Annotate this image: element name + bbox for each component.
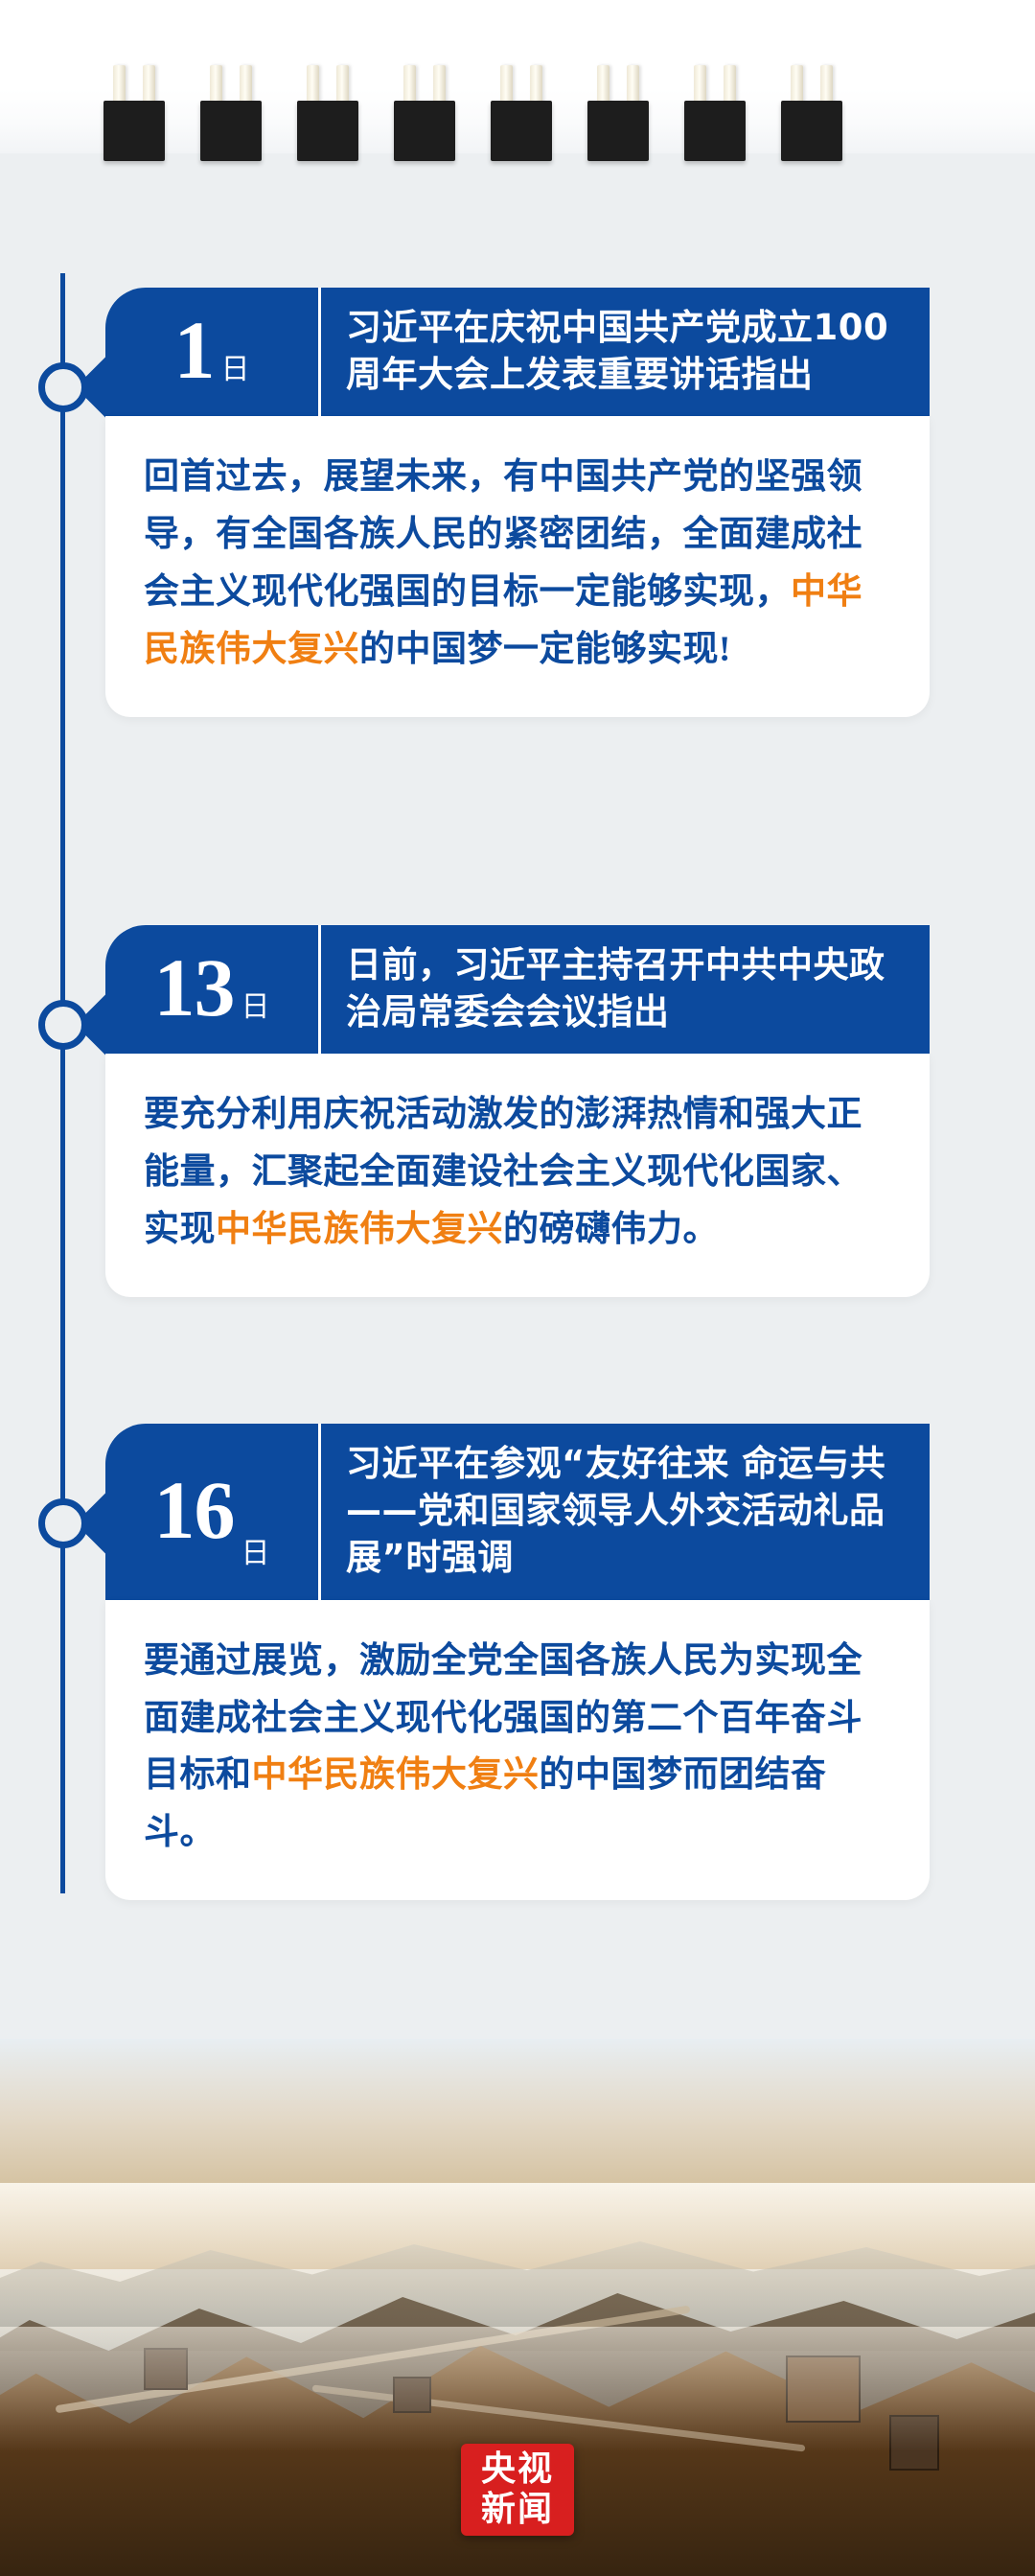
timeline-marker-dot xyxy=(38,1498,88,1548)
date-badge: 1日 xyxy=(105,288,321,416)
cctv-news-logo: 央视 新闻 xyxy=(461,2444,574,2536)
timeline-line xyxy=(60,273,65,1893)
card-title: 习近平在庆祝中国共产党成立100周年大会上发表重要讲话指出 xyxy=(321,288,930,416)
timeline-card[interactable]: 1日习近平在庆祝中国共产党成立100周年大会上发表重要讲话指出回首过去，展望未来… xyxy=(105,288,930,717)
binding-clip xyxy=(781,101,842,161)
date-badge: 16日 xyxy=(105,1424,321,1600)
card-header: 13日日前，习近平主持召开中共中央政治局常委会会议指出 xyxy=(105,925,930,1054)
body-text-segment: 的中国梦一定能够实现! xyxy=(359,630,731,669)
highlighted-phrase: 中华民族伟大复兴 xyxy=(216,1210,503,1249)
date-unit-label: 日 xyxy=(241,983,270,1036)
card-body-text: 回首过去，展望未来，有中国共产党的坚强领导，有全国各族人民的紧密团结，全面建成社… xyxy=(105,416,930,717)
card-title: 习近平在参观“友好往来 命运与共——党和国家领导人外交活动礼品展”时强调 xyxy=(321,1424,930,1600)
logo-line-2: 新闻 xyxy=(481,2490,554,2530)
binding-clip xyxy=(103,101,165,161)
card-header: 1日习近平在庆祝中国共产党成立100周年大会上发表重要讲话指出 xyxy=(105,288,930,416)
card-body-text: 要充分利用庆祝活动激发的澎湃热情和强大正能量，汇聚起全面建设社会主义现代化国家、… xyxy=(105,1054,930,1297)
date-unit-label: 日 xyxy=(241,1529,270,1583)
timeline-card[interactable]: 16日习近平在参观“友好往来 命运与共——党和国家领导人外交活动礼品展”时强调要… xyxy=(105,1424,930,1900)
notebook-binding xyxy=(0,0,1035,182)
card-body-text: 要通过展览，激励全党全国各族人民为实现全面建成社会主义现代化强国的第二个百年奋斗… xyxy=(105,1600,930,1901)
date-number: 16 xyxy=(154,1469,235,1551)
date-number: 1 xyxy=(174,309,215,391)
timeline-marker-dot xyxy=(38,362,88,412)
logo-line-1: 央视 xyxy=(481,2449,554,2490)
card-header: 16日习近平在参观“友好往来 命运与共——党和国家领导人外交活动礼品展”时强调 xyxy=(105,1424,930,1600)
binding-clip xyxy=(587,101,649,161)
date-number: 13 xyxy=(154,946,235,1029)
timeline-card[interactable]: 13日日前，习近平主持召开中共中央政治局常委会会议指出要充分利用庆祝活动激发的澎… xyxy=(105,925,930,1297)
binding-clip xyxy=(394,101,455,161)
date-badge: 13日 xyxy=(105,925,321,1054)
binding-clip xyxy=(297,101,358,161)
binding-clip xyxy=(491,101,552,161)
timeline-marker-dot xyxy=(38,1000,88,1050)
body-text-segment: 回首过去，展望未来，有中国共产党的坚强领导，有全国各族人民的紧密团结，全面建成社… xyxy=(144,457,862,612)
card-title: 日前，习近平主持召开中共中央政治局常委会会议指出 xyxy=(321,925,930,1054)
binding-clip xyxy=(200,101,262,161)
highlighted-phrase: 中华民族伟大复兴 xyxy=(252,1755,540,1795)
body-text-segment: 的磅礴伟力。 xyxy=(503,1210,719,1249)
photo-low-fog xyxy=(0,2327,1035,2451)
binding-clip xyxy=(684,101,746,161)
date-unit-label: 日 xyxy=(221,345,250,399)
